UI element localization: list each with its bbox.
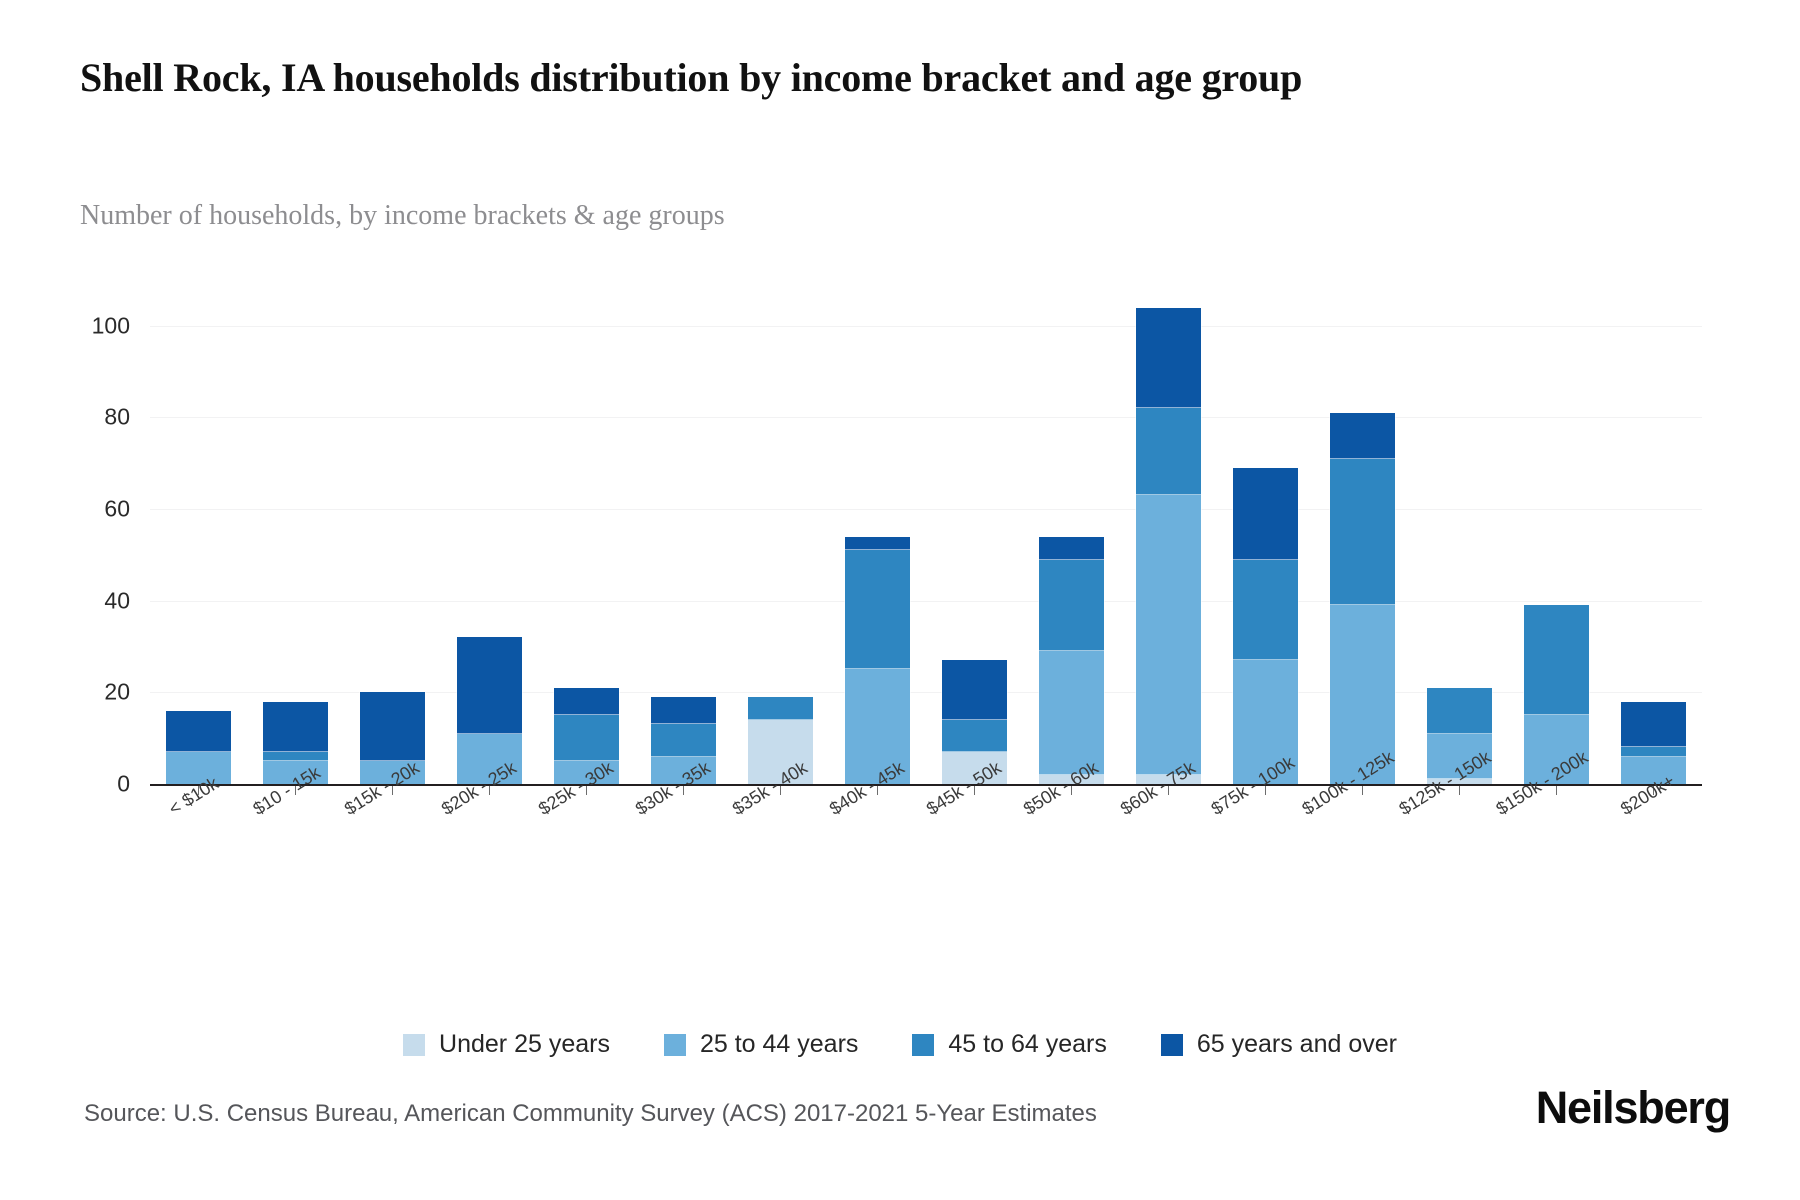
x-axis-label: $100k - 125k (1314, 796, 1411, 886)
bar-column[interactable] (1120, 280, 1217, 784)
x-axis-label: $10 - 15k (247, 796, 344, 886)
chart-page: Shell Rock, IA households distribution b… (0, 0, 1800, 1200)
page-title: Shell Rock, IA households distribution b… (80, 52, 1680, 103)
x-axis-label: $25k - 30k (538, 796, 635, 886)
x-axis-label: $150k - 200k (1508, 796, 1605, 886)
bar-stack[interactable] (1039, 537, 1104, 784)
bar-segment[interactable] (1524, 605, 1589, 715)
legend-item[interactable]: 65 years and over (1161, 1030, 1397, 1059)
brand-logo: Neilsberg (1536, 1082, 1730, 1134)
bar-column[interactable] (150, 280, 247, 784)
x-axis-label: $200k+ (1605, 796, 1702, 886)
x-axis-label: $50k - 60k (1023, 796, 1120, 886)
legend: Under 25 years25 to 44 years45 to 64 yea… (0, 1030, 1800, 1059)
x-axis-labels: < $10k$10 - 15k$15k - 20k$20k - 25k$25k … (150, 796, 1702, 886)
y-axis-tick-label: 20 (40, 679, 130, 706)
y-axis-tick-label: 40 (40, 587, 130, 614)
source-note: Source: U.S. Census Bureau, American Com… (84, 1100, 1097, 1128)
x-axis-label: < $10k (150, 796, 247, 886)
bar-stack[interactable] (1233, 468, 1298, 784)
bar-segment[interactable] (263, 752, 328, 761)
bar-segment[interactable] (1136, 308, 1201, 409)
bar-segment[interactable] (1621, 702, 1686, 748)
bar-segment[interactable] (1039, 560, 1104, 652)
x-axis-label: $60k - 75k (1120, 796, 1217, 886)
bar-segment[interactable] (748, 697, 813, 720)
bar-segment[interactable] (845, 550, 910, 669)
bar-column[interactable] (829, 280, 926, 784)
bar-stack[interactable] (1330, 413, 1395, 784)
x-axis-label: $20k - 25k (441, 796, 538, 886)
bar-segment[interactable] (1330, 459, 1395, 606)
bar-column[interactable] (1314, 280, 1411, 784)
bar-segment[interactable] (263, 702, 328, 752)
legend-label: 45 to 64 years (948, 1030, 1106, 1059)
bar-segment[interactable] (1427, 688, 1492, 734)
bar-segment[interactable] (457, 637, 522, 733)
bar-column[interactable] (247, 280, 344, 784)
page-subtitle: Number of households, by income brackets… (80, 200, 725, 232)
x-axis-label: $40k - 45k (829, 796, 926, 886)
x-axis-label: $125k - 150k (1411, 796, 1508, 886)
bar-segment[interactable] (845, 537, 910, 551)
bar-column[interactable] (538, 280, 635, 784)
y-axis-tick-label: 100 (40, 312, 130, 339)
bar-segment[interactable] (942, 720, 1007, 752)
bar-column[interactable] (441, 280, 538, 784)
bar-segment[interactable] (1136, 495, 1201, 774)
bar-stack[interactable] (1136, 308, 1201, 784)
x-axis-label: $45k - 50k (926, 796, 1023, 886)
bar-segment[interactable] (942, 660, 1007, 720)
legend-label: 65 years and over (1197, 1030, 1397, 1059)
legend-item[interactable]: 25 to 44 years (664, 1030, 858, 1059)
bar-column[interactable] (635, 280, 732, 784)
bar-segment[interactable] (554, 688, 619, 715)
bar-column[interactable] (1508, 280, 1605, 784)
bar-segment[interactable] (1330, 413, 1395, 459)
bar-column[interactable] (1217, 280, 1314, 784)
bar-column[interactable] (344, 280, 441, 784)
legend-label: 25 to 44 years (700, 1030, 858, 1059)
legend-swatch-age_65_over (1161, 1034, 1183, 1056)
bar-column[interactable] (1023, 280, 1120, 784)
bar-segment[interactable] (651, 697, 716, 724)
bar-column[interactable] (732, 280, 829, 784)
bar-segment[interactable] (1039, 651, 1104, 775)
bar-segment[interactable] (166, 711, 231, 752)
legend-item[interactable]: Under 25 years (403, 1030, 610, 1059)
bar-segment[interactable] (651, 724, 716, 756)
bar-stack[interactable] (1621, 702, 1686, 784)
x-axis-label: $35k - 40k (732, 796, 829, 886)
bar-segment[interactable] (1233, 468, 1298, 560)
bar-column[interactable] (1411, 280, 1508, 784)
bar-segment[interactable] (554, 715, 619, 761)
bar-series-container (150, 280, 1702, 784)
bar-segment[interactable] (1233, 560, 1298, 661)
x-axis-label: $15k - 20k (344, 796, 441, 886)
y-axis-tick-label: 80 (40, 404, 130, 431)
bar-segment[interactable] (1136, 408, 1201, 495)
bar-column[interactable] (926, 280, 1023, 784)
plot-area (150, 280, 1702, 784)
legend-swatch-age_45_64 (912, 1034, 934, 1056)
bar-segment[interactable] (1621, 747, 1686, 756)
bar-segment[interactable] (1039, 537, 1104, 560)
bar-segment[interactable] (166, 752, 231, 784)
bar-column[interactable] (1605, 280, 1702, 784)
bar-segment[interactable] (360, 692, 425, 761)
x-axis-label: $30k - 35k (635, 796, 732, 886)
legend-swatch-under_25 (403, 1034, 425, 1056)
bar-stack[interactable] (166, 711, 231, 784)
legend-label: Under 25 years (439, 1030, 610, 1059)
y-axis-tick-label: 60 (40, 496, 130, 523)
x-axis-label: $75k - 100k (1217, 796, 1314, 886)
legend-item[interactable]: 45 to 64 years (912, 1030, 1106, 1059)
bar-stack[interactable] (845, 537, 910, 784)
legend-swatch-age_25_44 (664, 1034, 686, 1056)
y-axis-tick-label: 0 (40, 771, 130, 798)
